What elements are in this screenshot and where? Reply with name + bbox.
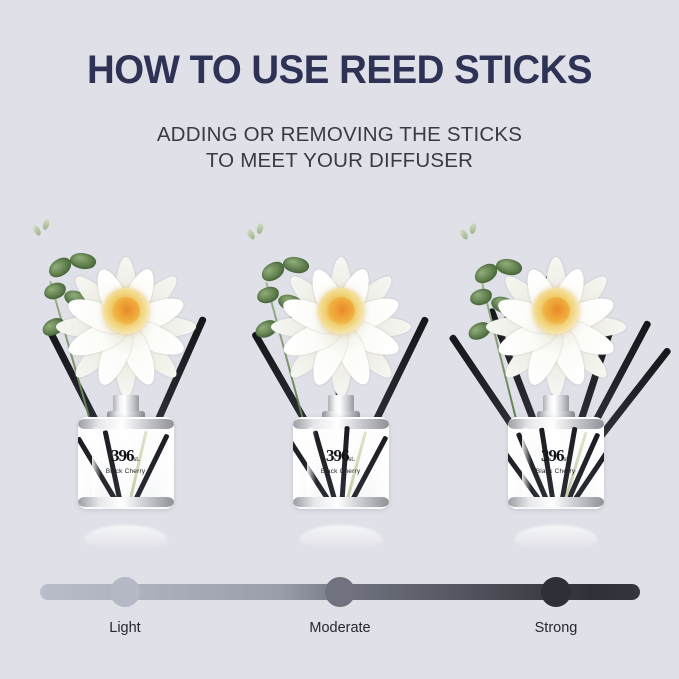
- leaf: [68, 250, 97, 273]
- flower-center: [318, 288, 364, 334]
- diffuser-strong: 396st. Black Cherry: [448, 215, 663, 560]
- slider-knob-strong[interactable]: [541, 577, 571, 607]
- bottle-glass: 396st. Black Cherry: [293, 417, 389, 509]
- bottle-glass: 396st. Black Cherry: [508, 417, 604, 509]
- bottle-rim-top: [293, 419, 389, 429]
- bottle-reflection: [299, 525, 383, 551]
- flower-bud: [459, 228, 470, 241]
- subtitle-line-2: TO MEET YOUR DIFFUSER: [0, 148, 679, 174]
- bottle-rim-top: [78, 419, 174, 429]
- glass-highlight: [522, 427, 531, 499]
- flower-center: [533, 288, 579, 334]
- bottle-rim-top: [508, 419, 604, 429]
- flower-bud: [469, 222, 477, 234]
- slider-label-strong: Strong: [476, 620, 636, 636]
- flower-bud: [256, 222, 264, 234]
- flower-bud: [246, 228, 257, 241]
- slider-label-moderate: Moderate: [260, 620, 420, 636]
- diffuser-bottle: 396st. Black Cherry: [508, 411, 604, 523]
- slider-knob-light[interactable]: [110, 577, 140, 607]
- diffuser-bottle: 396st. Black Cherry: [78, 411, 174, 523]
- glass-highlight: [307, 427, 316, 499]
- bottle-glass: 396st. Black Cherry: [78, 417, 174, 509]
- flower-bud: [42, 218, 50, 230]
- bottle-rim-bottom: [293, 497, 389, 507]
- leaf: [256, 286, 280, 304]
- diffuser-moderate: 396st. Black Cherry: [233, 215, 448, 560]
- infographic-canvas: HOW TO USE REED STICKS ADDING OR REMOVIN…: [0, 0, 679, 679]
- subtitle-line-1: ADDING OR REMOVING THE STICKS: [0, 122, 679, 148]
- slider-knob-moderate[interactable]: [325, 577, 355, 607]
- bottle-rim-bottom: [78, 497, 174, 507]
- slider-label-light: Light: [45, 620, 205, 636]
- page-title: HOW TO USE REED STICKS: [14, 50, 666, 90]
- leaf: [281, 253, 311, 276]
- bottle-reflection: [84, 525, 168, 551]
- intensity-slider[interactable]: Light Moderate Strong: [40, 584, 640, 600]
- diffuser-bottle: 396st. Black Cherry: [293, 411, 389, 523]
- bottle-reflection: [514, 525, 598, 551]
- glass-highlight: [92, 427, 101, 499]
- page-subtitle: ADDING OR REMOVING THE STICKS TO MEET YO…: [0, 122, 679, 174]
- flower-center: [103, 288, 149, 334]
- bottle-rim-bottom: [508, 497, 604, 507]
- leaf: [469, 288, 493, 306]
- product-row: 396st. Black Cherry: [0, 215, 679, 560]
- diffuser-light: 396st. Black Cherry: [18, 215, 233, 560]
- flower-bud: [32, 224, 42, 237]
